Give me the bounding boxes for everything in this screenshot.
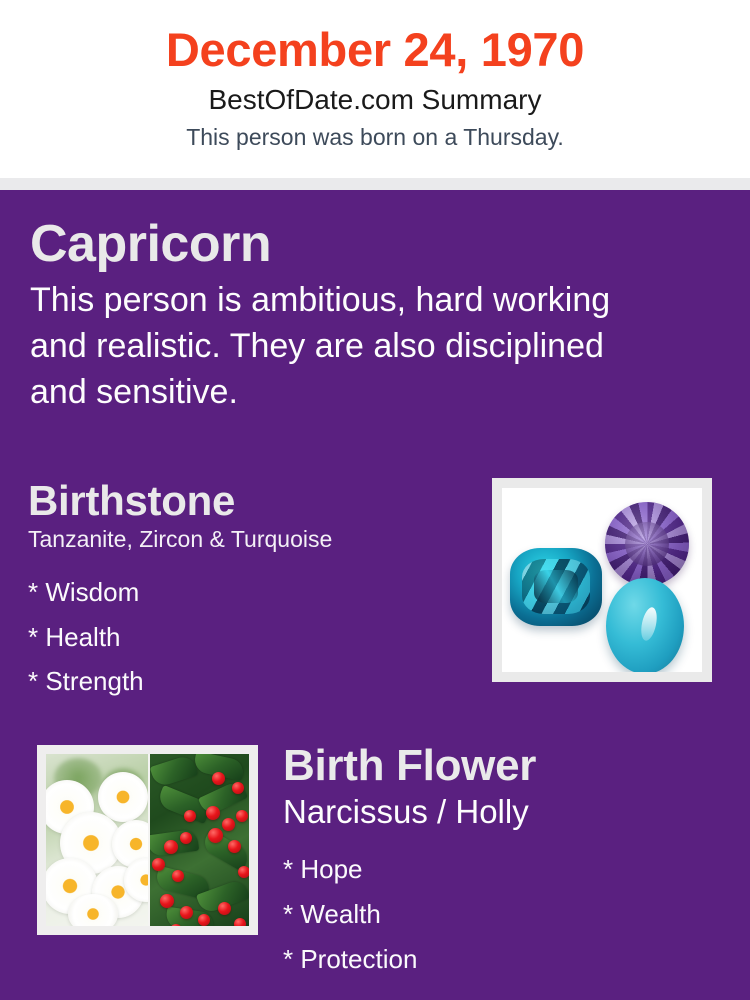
birthstone-section: Birthstone Tanzanite, Zircon & Turquoise… <box>28 478 478 704</box>
list-item: * Hope <box>283 847 723 892</box>
birthstone-photo-frame <box>492 478 712 682</box>
birth-flower-names: Narcissus / Holly <box>283 792 723 832</box>
zodiac-sign-name: Capricorn <box>30 216 670 272</box>
page-header: December 24, 1970 BestOfDate.com Summary… <box>0 0 750 178</box>
birth-flower-photo-frame <box>37 745 258 935</box>
list-item: * Wealth <box>283 892 723 937</box>
turquoise-gem-icon <box>606 578 684 672</box>
birth-flower-photo <box>46 754 249 926</box>
tanzanite-gem-icon <box>605 502 689 586</box>
birth-flower-traits-list: * Hope * Wealth * Protection <box>283 847 723 981</box>
content-panel: Capricorn This person is ambitious, hard… <box>0 190 750 1000</box>
summary-page: December 24, 1970 BestOfDate.com Summary… <box>0 0 750 1000</box>
birthstone-photo <box>502 488 702 672</box>
birthstone-names: Tanzanite, Zircon & Turquoise <box>28 526 478 554</box>
birth-flower-heading: Birth Flower <box>283 742 723 790</box>
birthstone-traits-list: * Wisdom * Health * Strength <box>28 570 478 704</box>
page-title-date: December 24, 1970 <box>0 22 750 77</box>
zircon-gem-icon <box>510 548 602 626</box>
narcissus-photo-half <box>46 754 148 926</box>
zodiac-description: This person is ambitious, hard working a… <box>30 278 650 416</box>
birthstone-heading: Birthstone <box>28 478 478 524</box>
birth-flower-section: Birth Flower Narcissus / Holly * Hope * … <box>283 742 723 981</box>
header-divider <box>0 178 750 190</box>
holly-photo-half <box>148 754 250 926</box>
site-name-subtitle: BestOfDate.com Summary <box>0 82 750 118</box>
list-item: * Strength <box>28 659 478 704</box>
weekday-line: This person was born on a Thursday. <box>0 123 750 153</box>
zodiac-section: Capricorn This person is ambitious, hard… <box>30 216 670 416</box>
list-item: * Wisdom <box>28 570 478 615</box>
list-item: * Protection <box>283 937 723 982</box>
list-item: * Health <box>28 615 478 660</box>
